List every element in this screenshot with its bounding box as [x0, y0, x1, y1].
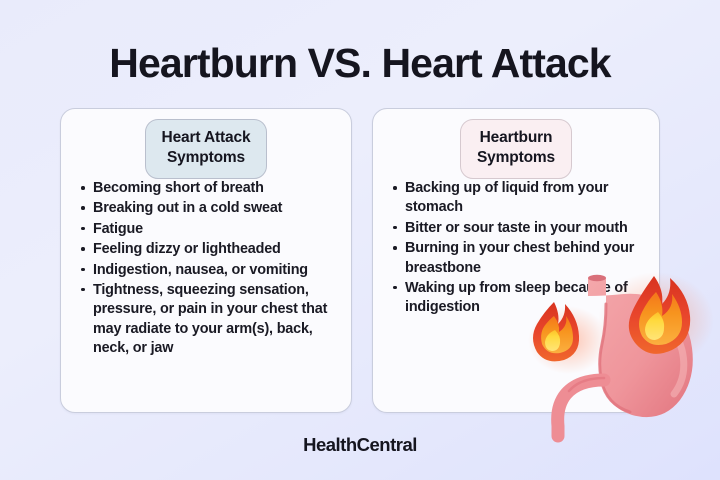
heartburn-badge: Heartburn Symptoms: [460, 119, 572, 179]
list-item: Bitter or sour taste in your mouth: [391, 219, 647, 238]
heart-attack-badge-wrap: Heart Attack Symptoms: [61, 119, 351, 179]
heart-attack-badge: Heart Attack Symptoms: [145, 119, 268, 179]
list-item: Burning in your chest behind your breast…: [391, 239, 647, 278]
list-item: Fatigue: [79, 220, 339, 239]
heartburn-card: Heartburn Symptoms Backing up of liquid …: [372, 108, 660, 413]
list-item: Tightness, squeezing sensation, pressure…: [79, 281, 339, 359]
heart-attack-symptom-list: Becoming short of breath Breaking out in…: [79, 179, 339, 359]
badge-line-2: Symptoms: [162, 148, 251, 168]
brand-logo: HealthCentral: [0, 434, 720, 456]
list-item: Backing up of liquid from your stomach: [391, 179, 647, 218]
list-item: Becoming short of breath: [79, 179, 339, 198]
badge-line-1: Heart Attack: [162, 128, 251, 148]
list-item: Indigestion, nausea, or vomiting: [79, 261, 339, 280]
badge-line-2: Symptoms: [477, 148, 555, 168]
list-item: Breaking out in a cold sweat: [79, 199, 339, 218]
heart-attack-card: Heart Attack Symptoms Becoming short of …: [60, 108, 352, 413]
heartburn-symptom-list: Backing up of liquid from your stomach B…: [391, 179, 647, 319]
badge-line-1: Heartburn: [477, 128, 555, 148]
page-title: Heartburn VS. Heart Attack: [0, 40, 720, 87]
heartburn-badge-wrap: Heartburn Symptoms: [373, 119, 659, 179]
list-item: Feeling dizzy or lightheaded: [79, 240, 339, 259]
list-item: Waking up from sleep because of indigest…: [391, 279, 647, 318]
